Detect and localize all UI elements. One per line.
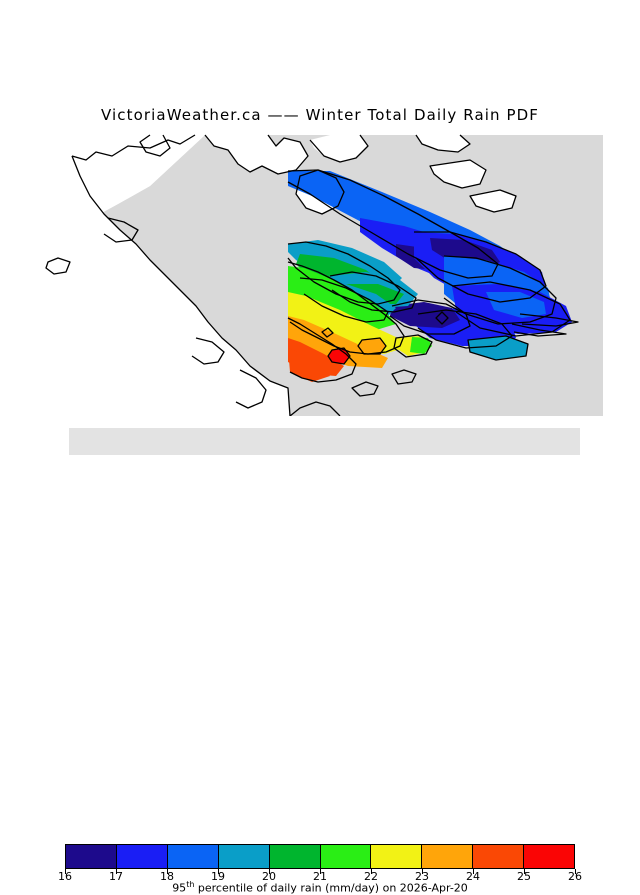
colorbar-segment-20-21[interactable] <box>270 845 321 868</box>
colorbar-swatches[interactable] <box>65 844 575 869</box>
colorbar-legend: 1617181920212223242526 95th percentile o… <box>0 418 640 480</box>
map-canvas[interactable] <box>0 126 640 416</box>
colorbar-segment-23-24[interactable] <box>422 845 473 868</box>
colorbar-segment-21-22[interactable] <box>321 845 372 868</box>
colorbar-segment-16-17[interactable] <box>66 845 117 868</box>
caption-rest: percentile of daily rain (mm/day) on 202… <box>194 882 467 895</box>
caption-ordinal-suffix: th <box>186 880 194 889</box>
caption-percentile-number: 95 <box>172 882 186 895</box>
weather-map-page: VictoriaWeather.ca —— Winter Total Daily… <box>0 0 640 480</box>
colorbar-segment-18-19[interactable] <box>168 845 219 868</box>
colorbar-segment-17-18[interactable] <box>117 845 168 868</box>
colorbar-segment-19-20[interactable] <box>219 845 270 868</box>
colorbar-segment-22-23[interactable] <box>371 845 422 868</box>
colorbar-shadow <box>69 428 580 455</box>
map-graphic <box>0 126 640 416</box>
colorbar-segment-24-25[interactable] <box>473 845 524 868</box>
colorbar-caption: 95th percentile of daily rain (mm/day) o… <box>0 880 640 895</box>
page-title: VictoriaWeather.ca —— Winter Total Daily… <box>0 106 640 124</box>
colorbar-segment-25-26[interactable] <box>524 845 574 868</box>
